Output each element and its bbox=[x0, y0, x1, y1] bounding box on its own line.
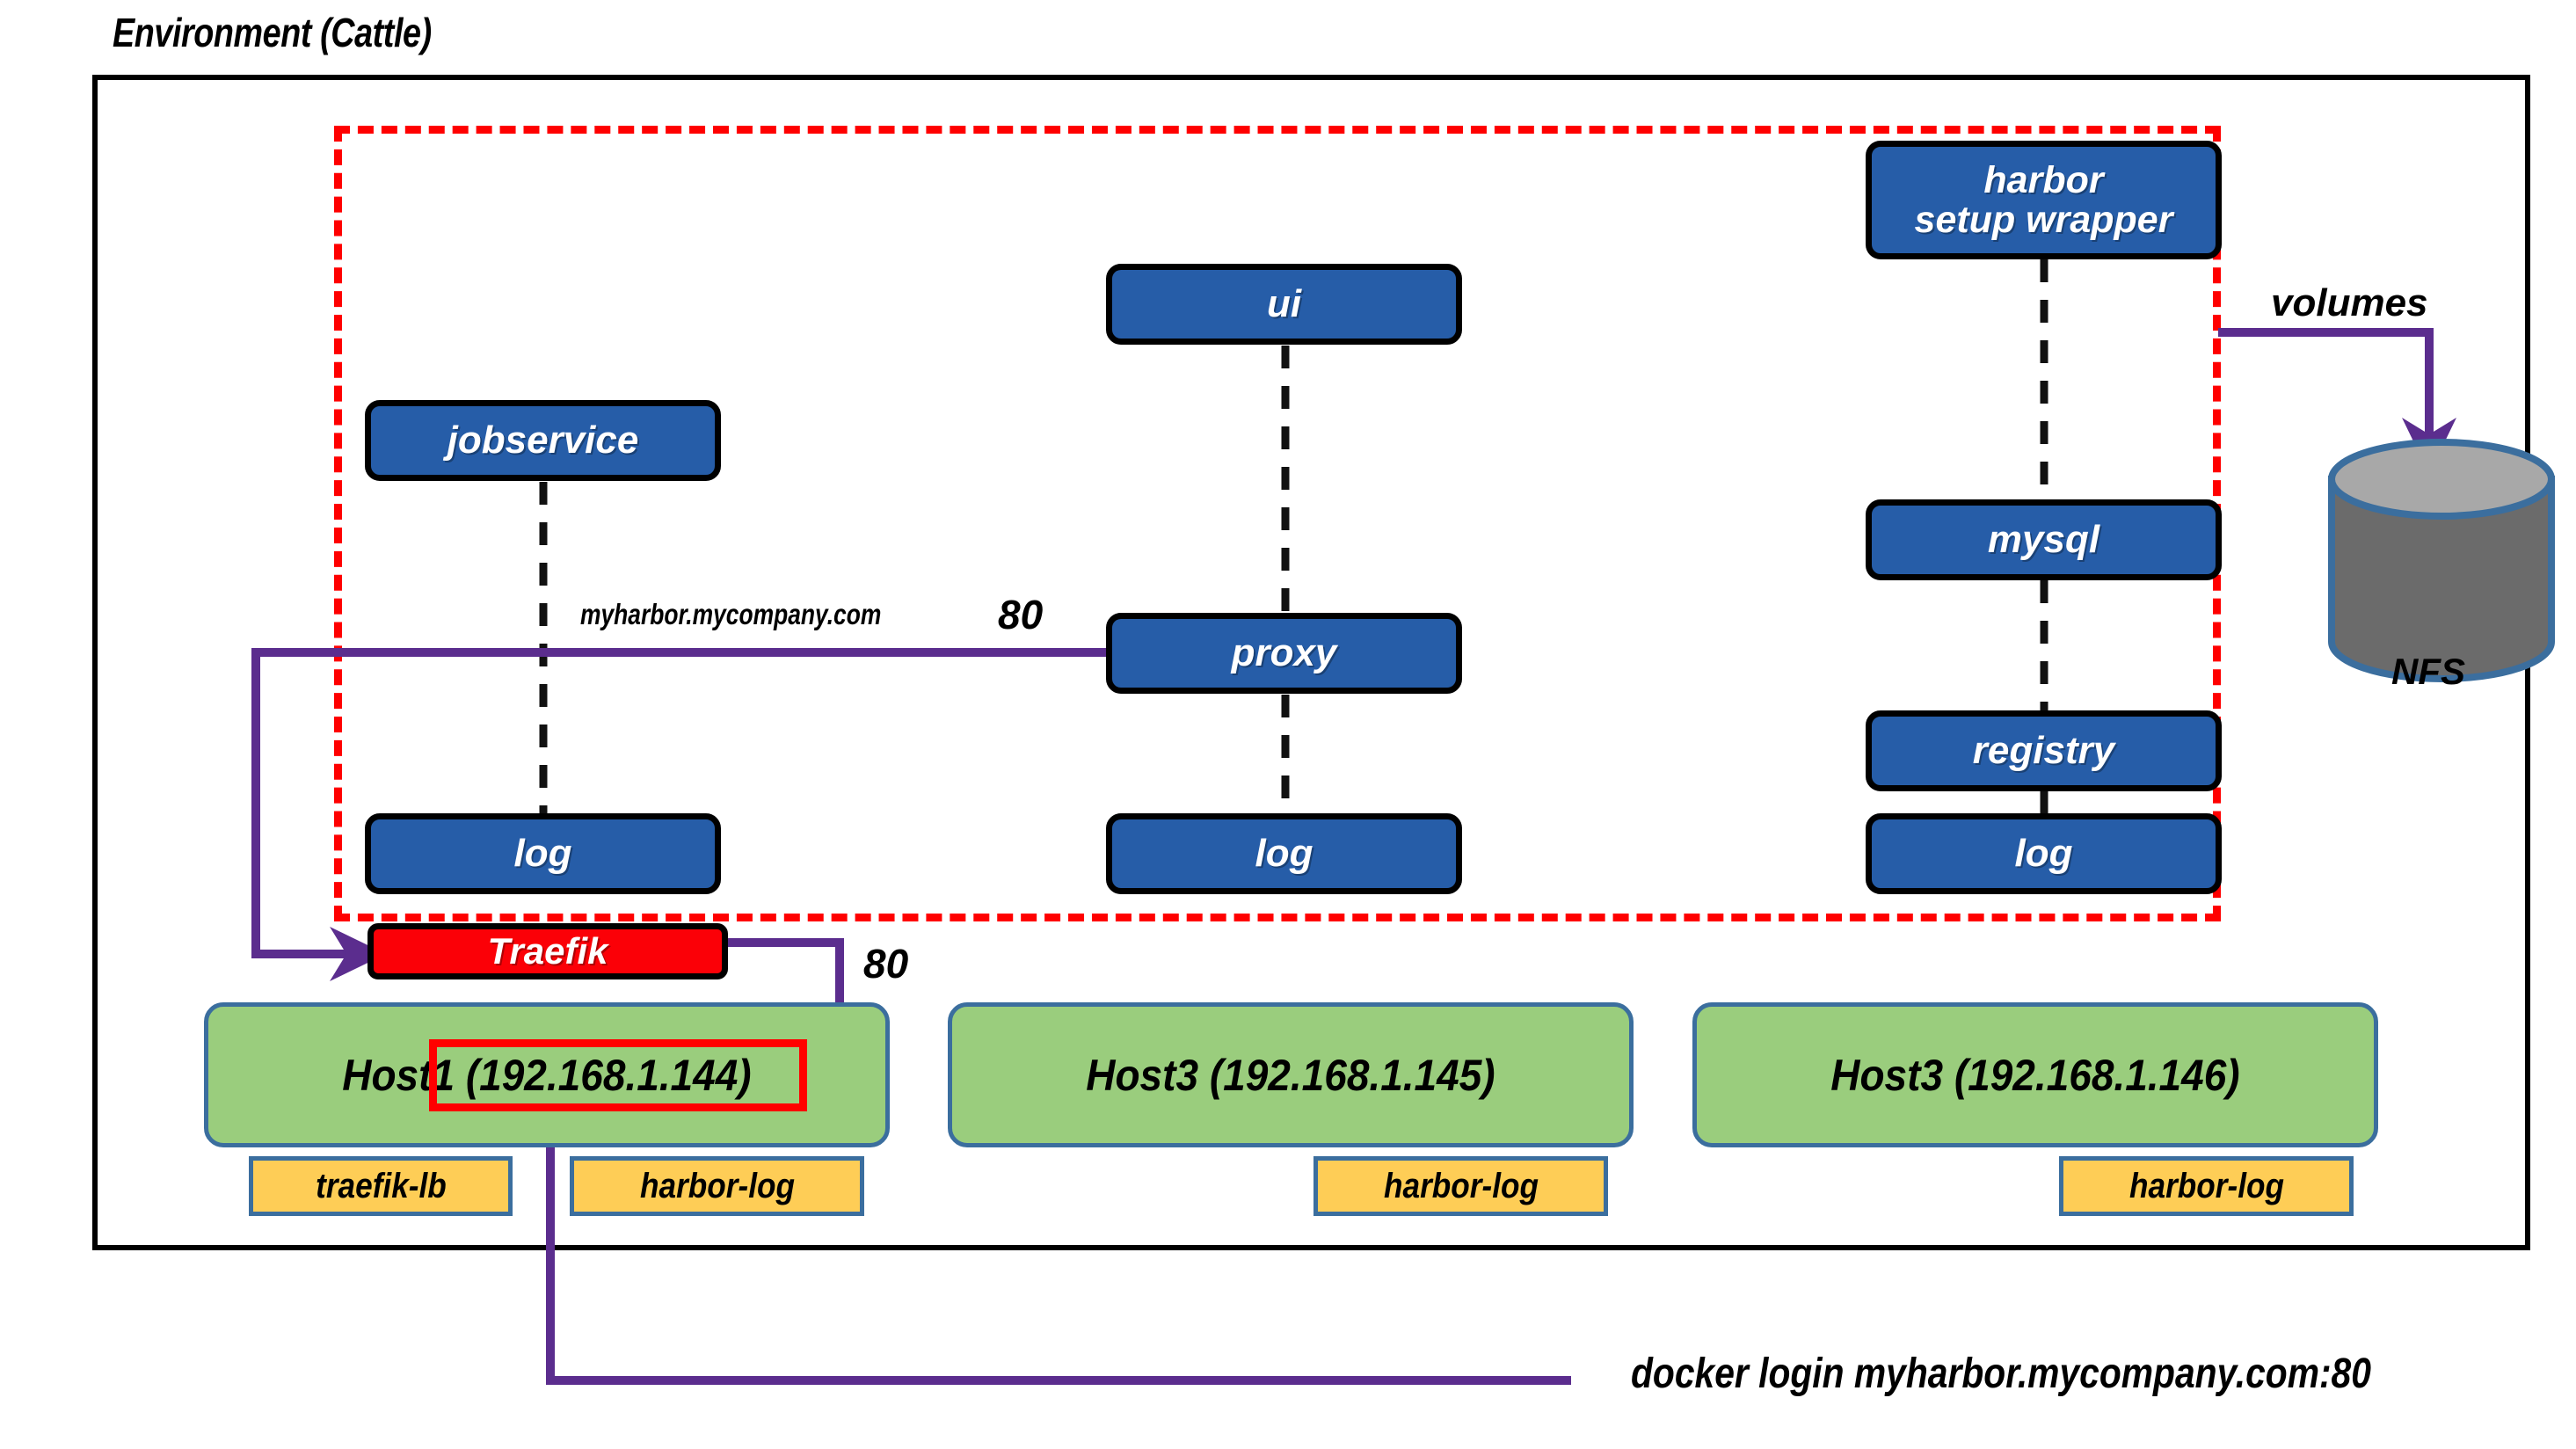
host-label: Host3 (192.168.1.145) bbox=[1086, 1050, 1495, 1101]
host1-ip-highlight bbox=[429, 1039, 807, 1111]
traefik-label: Traefik bbox=[488, 930, 608, 972]
badge-traefik-lb[interactable]: traefik-lb bbox=[249, 1156, 513, 1216]
annotation-port-proxy: 80 bbox=[998, 591, 1043, 638]
service-box-proxy[interactable]: proxy bbox=[1106, 613, 1462, 694]
annotation-volumes: volumes bbox=[2271, 281, 2428, 325]
service-label: mysql bbox=[1988, 520, 2099, 560]
service-box-ui[interactable]: ui bbox=[1106, 264, 1462, 345]
host-label: Host3 (192.168.1.146) bbox=[1830, 1050, 2239, 1101]
badge-label: harbor-log bbox=[639, 1167, 794, 1206]
service-box-registry[interactable]: registry bbox=[1866, 710, 2222, 791]
service-label: registry bbox=[1973, 731, 2114, 771]
traefik-load-balancer[interactable]: Traefik bbox=[367, 923, 728, 979]
annotation-port-traefik: 80 bbox=[863, 940, 908, 987]
service-box-log-middle[interactable]: log bbox=[1106, 813, 1462, 894]
badge-harbor-log-host2[interactable]: harbor-log bbox=[1313, 1156, 1608, 1216]
page-title: Environment (Cattle) bbox=[113, 9, 432, 56]
service-label: log bbox=[1255, 834, 1313, 874]
service-label: jobservice bbox=[448, 420, 639, 461]
badge-label: traefik-lb bbox=[316, 1167, 447, 1206]
service-label: log bbox=[514, 834, 572, 874]
service-box-jobservice[interactable]: jobservice bbox=[365, 400, 721, 481]
service-box-harbor-setup-wrapper[interactable]: harbor setup wrapper bbox=[1866, 141, 2222, 259]
service-label-line2: setup wrapper bbox=[1915, 200, 2173, 240]
service-label-line1: harbor bbox=[1983, 161, 2103, 200]
diagram-canvas: Environment (Cattle) bbox=[0, 0, 2576, 1449]
service-label: ui bbox=[1267, 284, 1301, 324]
host-box-3[interactable]: Host3 (192.168.1.146) bbox=[1692, 1002, 2378, 1147]
service-box-mysql[interactable]: mysql bbox=[1866, 499, 2222, 580]
badge-harbor-log-host3[interactable]: harbor-log bbox=[2059, 1156, 2354, 1216]
service-label: log bbox=[2015, 834, 2073, 874]
badge-label: harbor-log bbox=[2128, 1167, 2283, 1206]
annotation-domain: myharbor.mycompany.com bbox=[580, 598, 881, 631]
badge-label: harbor-log bbox=[1383, 1167, 1538, 1206]
service-box-log-right[interactable]: log bbox=[1866, 813, 2222, 894]
annotation-docker-login: docker login myharbor.mycompany.com:80 bbox=[1631, 1350, 2371, 1398]
annotation-nfs: NFS bbox=[2391, 651, 2465, 693]
host-box-2[interactable]: Host3 (192.168.1.145) bbox=[948, 1002, 1634, 1147]
badge-harbor-log-host1[interactable]: harbor-log bbox=[570, 1156, 864, 1216]
service-label: proxy bbox=[1232, 633, 1337, 674]
service-box-log-left[interactable]: log bbox=[365, 813, 721, 894]
